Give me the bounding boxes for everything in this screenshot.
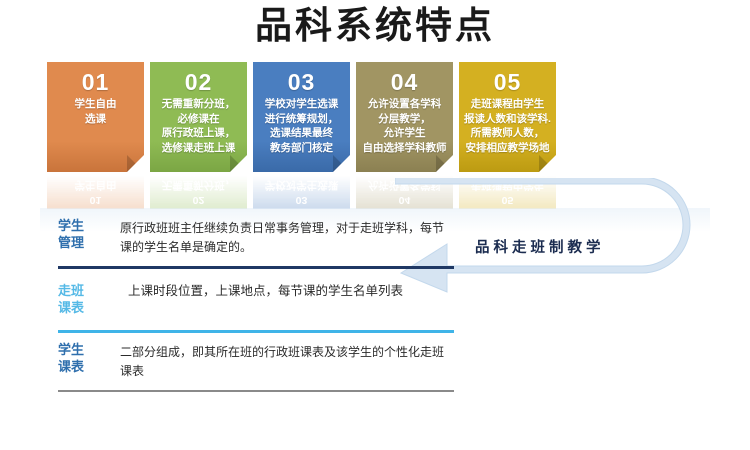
- list-item-label: 学生课表: [58, 341, 106, 375]
- card-reflection: 03 学校对学生选课进行统筹规划，选课结果最终教务部门核定: [253, 173, 350, 209]
- card-reflection-number: 01: [47, 193, 144, 208]
- card-fold-corner-icon: [333, 155, 350, 172]
- divider-gray: [58, 390, 454, 392]
- card-reflection: 01 学生自由选课: [47, 173, 144, 209]
- card-reflection-number: 03: [253, 193, 350, 208]
- page-title: 品科系统特点: [0, 2, 750, 50]
- list-item-text: 原行政班班主任继续负责日常事务管理，对于走班学科，每节课的学生名单是确定的。: [106, 217, 454, 257]
- card-reflection-body: 无需重新分班，必修课在原行政班上课，选修课走班上课: [150, 173, 247, 193]
- card-fold-corner-icon: [127, 155, 144, 172]
- feature-card[interactable]: 01 学生自由选课: [47, 62, 144, 172]
- card-reflection-body: 学校对学生选课进行统筹规划，选课结果最终教务部门核定: [253, 173, 350, 193]
- card-fold-corner-icon: [436, 155, 453, 172]
- card-reflection: 02 无需重新分班，必修课在原行政班上课，选修课走班上课: [150, 173, 247, 209]
- card-number: 02: [153, 68, 244, 97]
- list-item-text: 二部分组成，即其所在班的行政班课表及该学生的个性化走班课表: [106, 341, 454, 381]
- feature-card[interactable]: 02 无需重新分班，必修课在原行政班上课，选修课走班上课: [150, 62, 247, 172]
- card-body: 学生自由选课: [50, 97, 141, 126]
- detail-list: 学生管理 原行政班班主任继续负责日常事务管理，对于走班学科，每节课的学生名单是确…: [58, 209, 454, 392]
- card-body: 无需重新分班，必修课在原行政班上课，选修课走班上课: [153, 97, 244, 155]
- card-number: 04: [359, 68, 450, 97]
- card-reflection-body: 学生自由选课: [47, 173, 144, 193]
- feature-card[interactable]: 04 允许设置各学科分层教学，允许学生自由选择学科教师: [356, 62, 453, 172]
- list-item-label: 学生管理: [58, 217, 106, 251]
- list-item[interactable]: 走班课表 上课时段位置，上课地点，每节课的学生名单列表: [58, 269, 454, 330]
- card-number: 05: [462, 68, 553, 97]
- feature-card[interactable]: 03 学校对学生选课进行统筹规划，选课结果最终教务部门核定: [253, 62, 350, 172]
- card-body: 允许设置各学科分层教学，允许学生自由选择学科教师: [359, 97, 450, 155]
- card-fold-corner-icon: [539, 155, 556, 172]
- feature-card[interactable]: 05 走班课程由学生报读人数和该学科.所需教师人数，安排相应教学场地: [459, 62, 556, 172]
- list-item[interactable]: 学生管理 原行政班班主任继续负责日常事务管理，对于走班学科，每节课的学生名单是确…: [58, 209, 454, 266]
- card-fold-corner-icon: [230, 155, 247, 172]
- list-item[interactable]: 学生课表 二部分组成，即其所在班的行政班课表及该学生的个性化走班课表: [58, 333, 454, 390]
- card-body: 走班课程由学生报读人数和该学科.所需教师人数，安排相应教学场地: [462, 97, 553, 155]
- loop-arrow-label: 品科走班制教学: [475, 236, 605, 257]
- feature-cards: 01 学生自由选课 01 学生自由选课 02 无需重新分班，必修课在原行政班上课…: [40, 62, 710, 177]
- card-body: 学校对学生选课进行统筹规划，选课结果最终教务部门核定: [256, 97, 347, 155]
- card-number: 03: [256, 68, 347, 97]
- list-item-text: 上课时段位置，上课地点，每节课的学生名单列表: [106, 282, 454, 301]
- list-item-label: 走班课表: [58, 282, 106, 316]
- card-reflection-number: 02: [150, 193, 247, 208]
- card-number: 01: [50, 68, 141, 97]
